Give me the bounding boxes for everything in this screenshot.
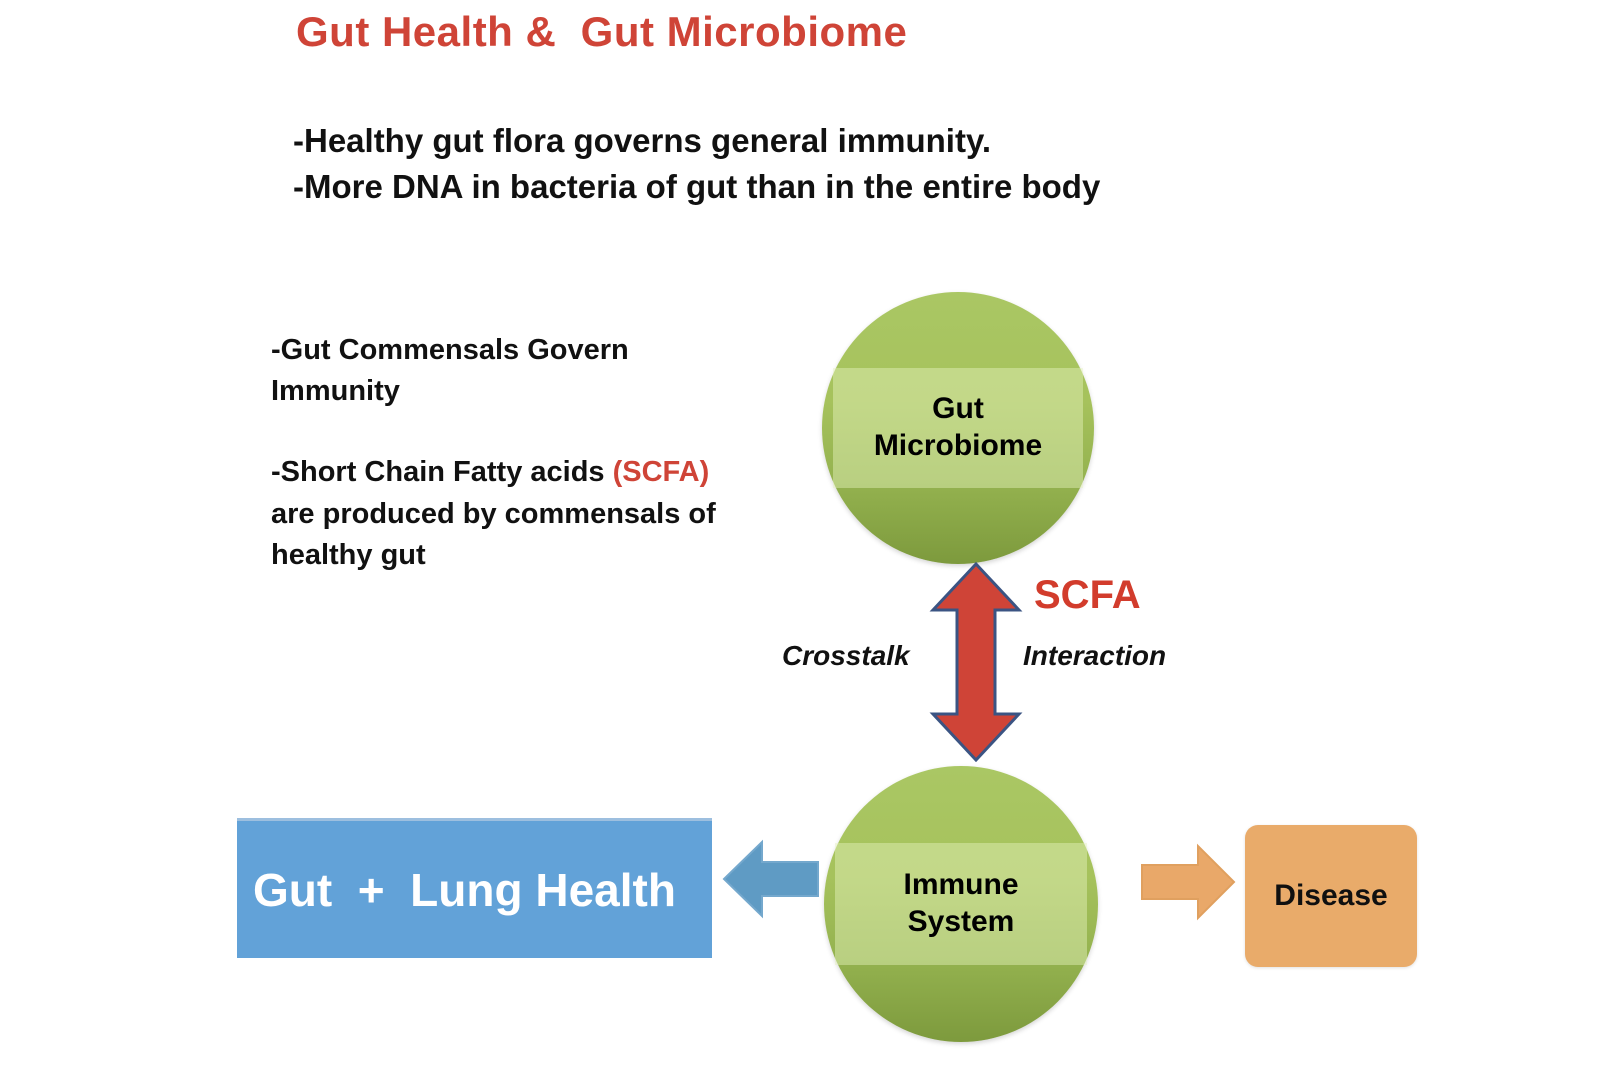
left-text-block: -Gut Commensals Govern Immunity -Short C… [271,330,741,576]
immune-system-label-band: Immune System [835,843,1087,964]
intro-bullet-2: -More DNA in bacteria of gut than in the… [293,164,1293,210]
arrow-left-icon [722,836,820,922]
edge-label-crosstalk: Crosstalk [782,640,910,672]
intro-bullet-list: -Healthy gut flora governs general immun… [293,118,1293,209]
arrow-right-icon [1140,842,1236,922]
node-gut-microbiome[interactable]: Gut Microbiome [822,292,1094,564]
intro-bullet-1: -Healthy gut flora governs general immun… [293,118,1293,164]
node-gut-lung-health[interactable]: Gut + Lung Health [237,818,712,958]
left-paragraph-scfa: -Short Chain Fatty acids (SCFA) are prod… [271,452,741,576]
scfa-text-lead: -Short Chain Fatty acids [271,456,613,488]
gut-microbiome-label-band: Gut Microbiome [833,368,1083,488]
crosstalk-double-arrow-icon [929,562,1023,762]
disease-label: Disease [1274,879,1387,913]
page-title: Gut Health & Gut Microbiome [296,8,907,56]
edge-label-interaction: Interaction [1023,640,1166,672]
gut-lung-health-label: Gut + Lung Health [237,863,676,917]
immune-system-label: Immune System [903,867,1018,940]
slide-canvas: Gut Health & Gut Microbiome -Healthy gut… [0,0,1600,1065]
node-disease[interactable]: Disease [1245,825,1417,967]
left-paragraph-commensals: -Gut Commensals Govern Immunity [271,330,741,412]
scfa-text-tail: are produced by commensals of healthy gu… [271,498,716,571]
edge-label-scfa: SCFA [1034,573,1141,618]
node-immune-system[interactable]: Immune System [824,766,1098,1042]
gut-microbiome-label: Gut Microbiome [874,391,1042,464]
scfa-abbreviation: (SCFA) [613,456,710,488]
